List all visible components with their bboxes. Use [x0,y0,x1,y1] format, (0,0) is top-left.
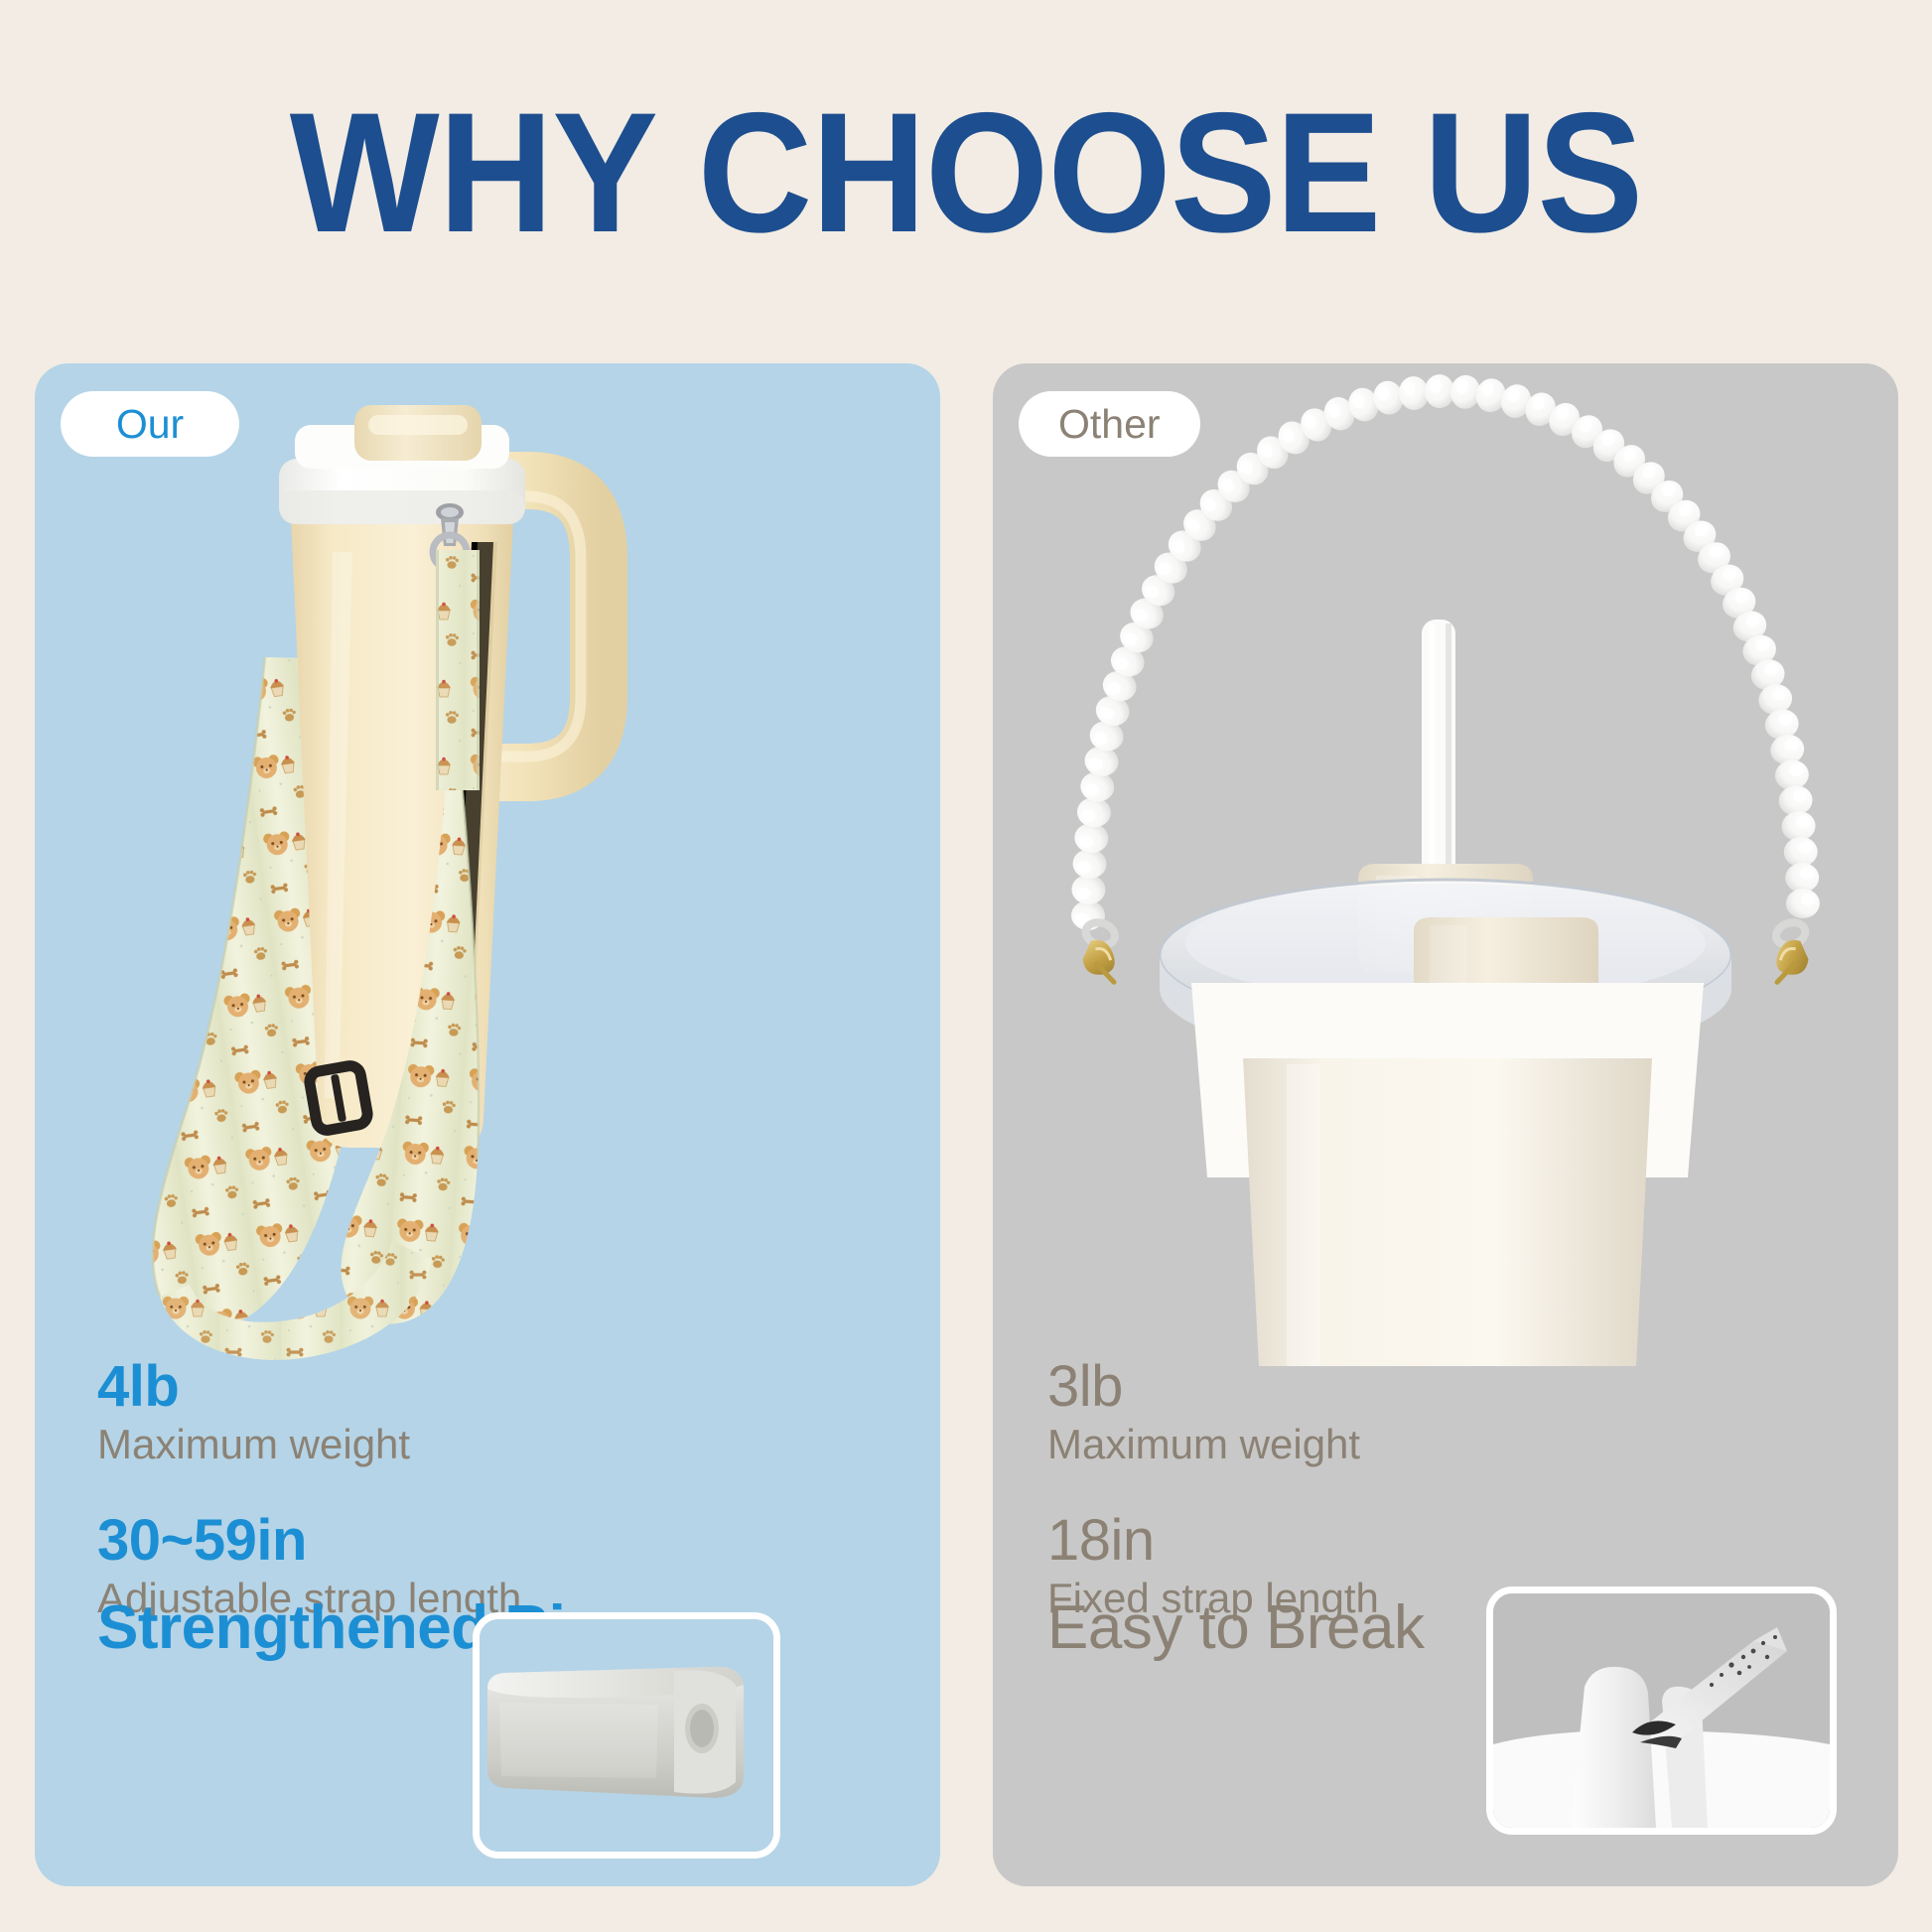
product-image-other-tumbler [993,363,1898,1366]
stat-value: 30~59in [97,1510,792,1573]
stat-value: 3lb [1047,1356,1742,1419]
stat-label: Maximum weight [97,1421,792,1468]
inset-broken-clip [1486,1587,1837,1835]
inset-strengthened-ring [473,1612,780,1859]
comparison-panel-other: Other 3lb Maximum weight 18in Fixed stra… [993,363,1898,1886]
stat-value: 18in [1047,1510,1742,1573]
badge-other: Other [1019,391,1200,457]
page-title: WHY CHOOSE US [68,87,1864,258]
stat-value: 4lb [97,1356,792,1419]
stat-item: 3lb Maximum weight [1047,1356,1742,1468]
straw [1422,620,1455,888]
stat-item: 4lb Maximum weight [97,1356,792,1468]
headline-other: Easy to Break [1047,1592,1424,1663]
stat-label: Maximum weight [1047,1421,1742,1468]
badge-our: Our [61,391,239,457]
comparison-panel-our: Our 4lb Maximum weight 30~59in Adjustabl… [35,363,940,1886]
badge-other-label: Other [1058,401,1161,448]
clasp-right [1761,919,1818,983]
product-image-our-tumbler [35,363,940,1366]
badge-our-label: Our [116,401,184,448]
